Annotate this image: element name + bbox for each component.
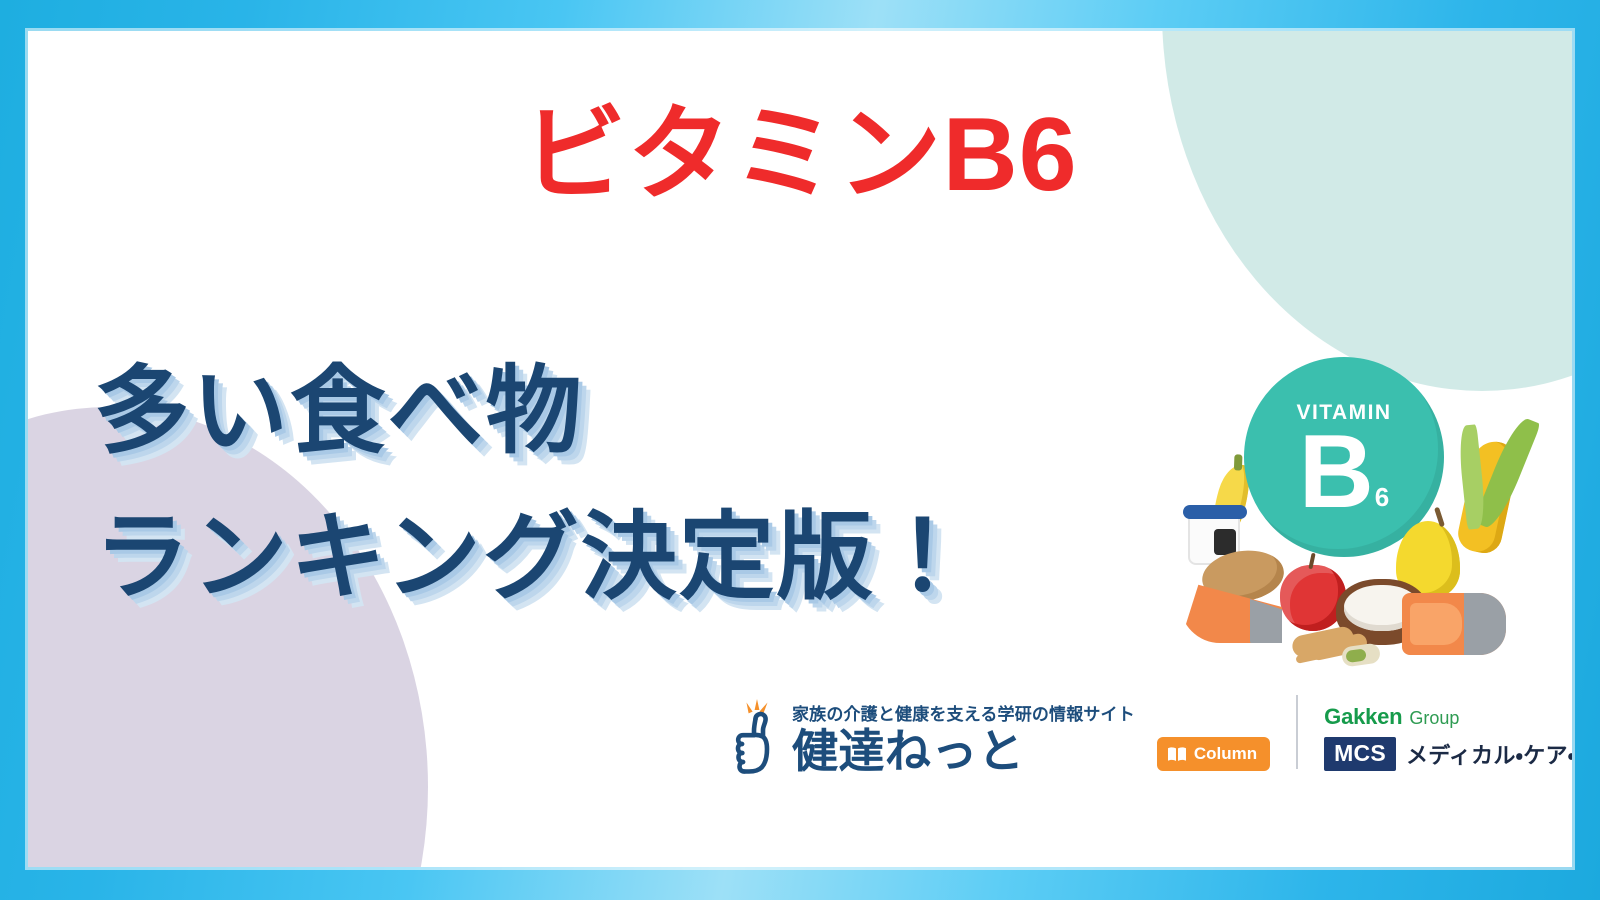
subheadline: 多い食べ物 ランキング決定版！: [94, 339, 972, 631]
thumbs-up-icon: [734, 697, 782, 775]
page-title: ビタミンB6: [28, 97, 1572, 213]
gakken-group-label: Group: [1409, 708, 1459, 729]
gakken-group-line: Gakken Group: [1324, 704, 1572, 730]
salmon-steak-icon: [1402, 593, 1506, 655]
brand-tagline: 家族の介護と健康を支える学研の情報サイト: [792, 700, 1135, 725]
column-badge-label: Column: [1194, 744, 1257, 764]
mcs-name: メディカル・ケア・サービス: [1406, 738, 1572, 770]
vitamin-subscript: 6: [1375, 486, 1389, 509]
vitamin-letter: B: [1299, 427, 1372, 519]
brand-text: 家族の介護と健康を支える学研の情報サイト 健達ねっと: [792, 700, 1135, 775]
footer-divider: [1296, 695, 1298, 769]
open-book-icon: [1167, 746, 1187, 762]
mcs-mark: MCS: [1324, 737, 1396, 771]
gakken-mcs-logo[interactable]: Gakken Group MCS メディカル・ケア・サービス: [1324, 704, 1572, 771]
banner-root: ビタミンB6 多い食べ物 ランキング決定版！ VITAMIN B 6: [0, 0, 1600, 900]
mcs-line: MCS メディカル・ケア・サービス: [1324, 737, 1572, 771]
kentatsu-net-logo[interactable]: 家族の介護と健康を支える学研の情報サイト 健達ねっと: [734, 697, 1135, 775]
subheadline-line-2: ランキング決定版！: [94, 485, 972, 631]
gakken-name: Gakken: [1324, 704, 1402, 730]
footer-logos: 家族の介護と健康を支える学研の情報サイト 健達ねっと Column Gakken: [734, 695, 1572, 775]
vitamin-letter-group: B 6: [1299, 427, 1390, 519]
vitamin-b6-illustration: VITAMIN B 6: [1176, 353, 1516, 663]
subheadline-line-1: 多い食べ物: [94, 339, 972, 485]
brand-name: 健達ねっと: [792, 727, 1135, 775]
banner-canvas: ビタミンB6 多い食べ物 ランキング決定版！ VITAMIN B 6: [28, 31, 1572, 867]
column-badge[interactable]: Column: [1157, 737, 1270, 771]
pistachio-icon: [1341, 642, 1381, 667]
